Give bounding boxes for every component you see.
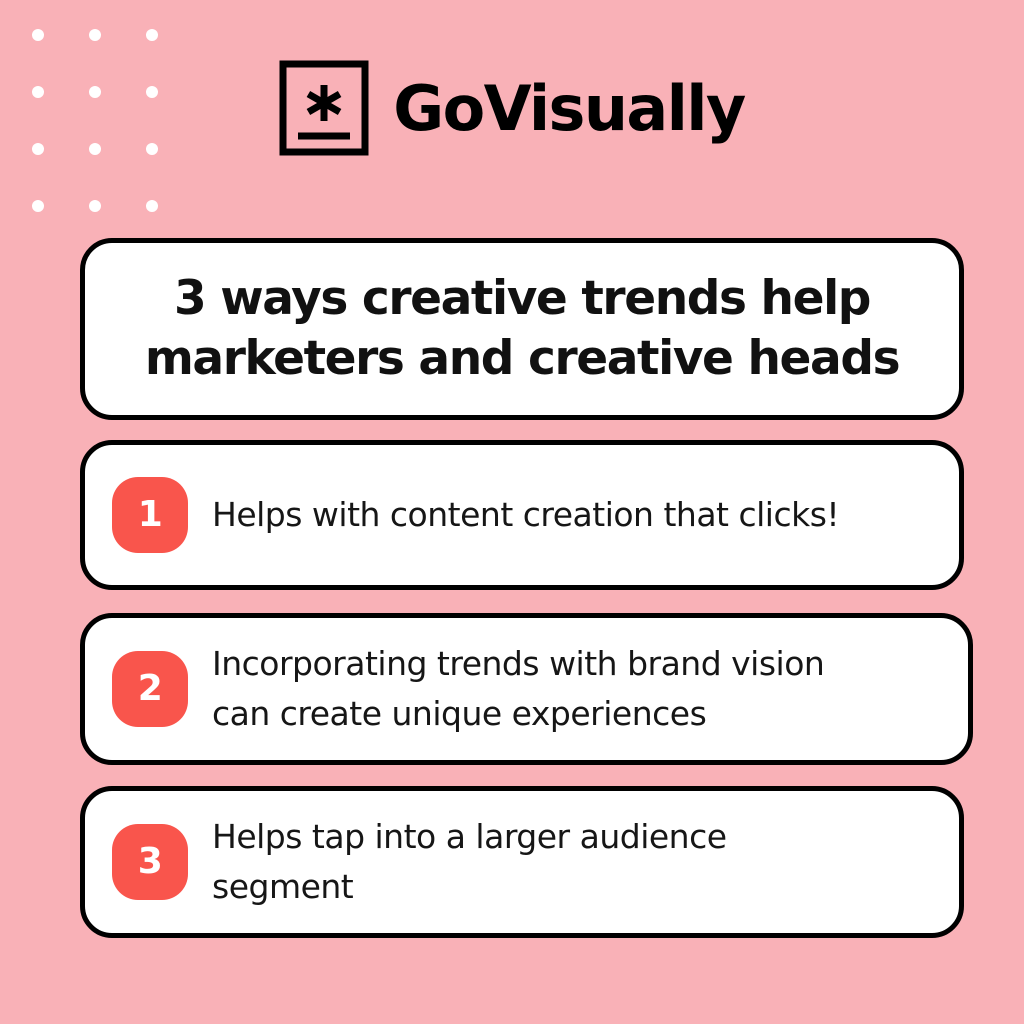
- point-number: 3: [138, 844, 163, 880]
- point-number: 2: [138, 671, 163, 707]
- headline-card: 3 ways creative trends help marketers an…: [80, 238, 964, 420]
- point-text: Helps tap into a larger audience segment: [212, 812, 727, 912]
- decorative-dot: [89, 200, 101, 212]
- decorative-dot: [89, 29, 101, 41]
- list-item: 3 Helps tap into a larger audience segme…: [80, 786, 964, 938]
- decorative-dot: [146, 29, 158, 41]
- point-number-badge: 1: [112, 477, 188, 553]
- point-text: Incorporating trends with brand vision c…: [212, 639, 824, 739]
- list-item: 2 Incorporating trends with brand vision…: [80, 613, 973, 765]
- brand-name: GoVisually: [393, 78, 744, 140]
- point-number-badge: 2: [112, 651, 188, 727]
- point-number: 1: [138, 497, 163, 533]
- point-number-badge: 3: [112, 824, 188, 900]
- brand-header: GoVisually: [0, 58, 1024, 158]
- decorative-dot: [32, 200, 44, 212]
- page-title: 3 ways creative trends help marketers an…: [145, 269, 899, 389]
- decorative-dot: [146, 200, 158, 212]
- asterisk-square-logo-icon: [279, 60, 369, 156]
- list-item: 1 Helps with content creation that click…: [80, 440, 964, 590]
- poster-canvas: GoVisually 3 ways creative trends help m…: [0, 0, 1024, 1024]
- point-text: Helps with content creation that clicks!: [212, 490, 839, 540]
- decorative-dot: [32, 29, 44, 41]
